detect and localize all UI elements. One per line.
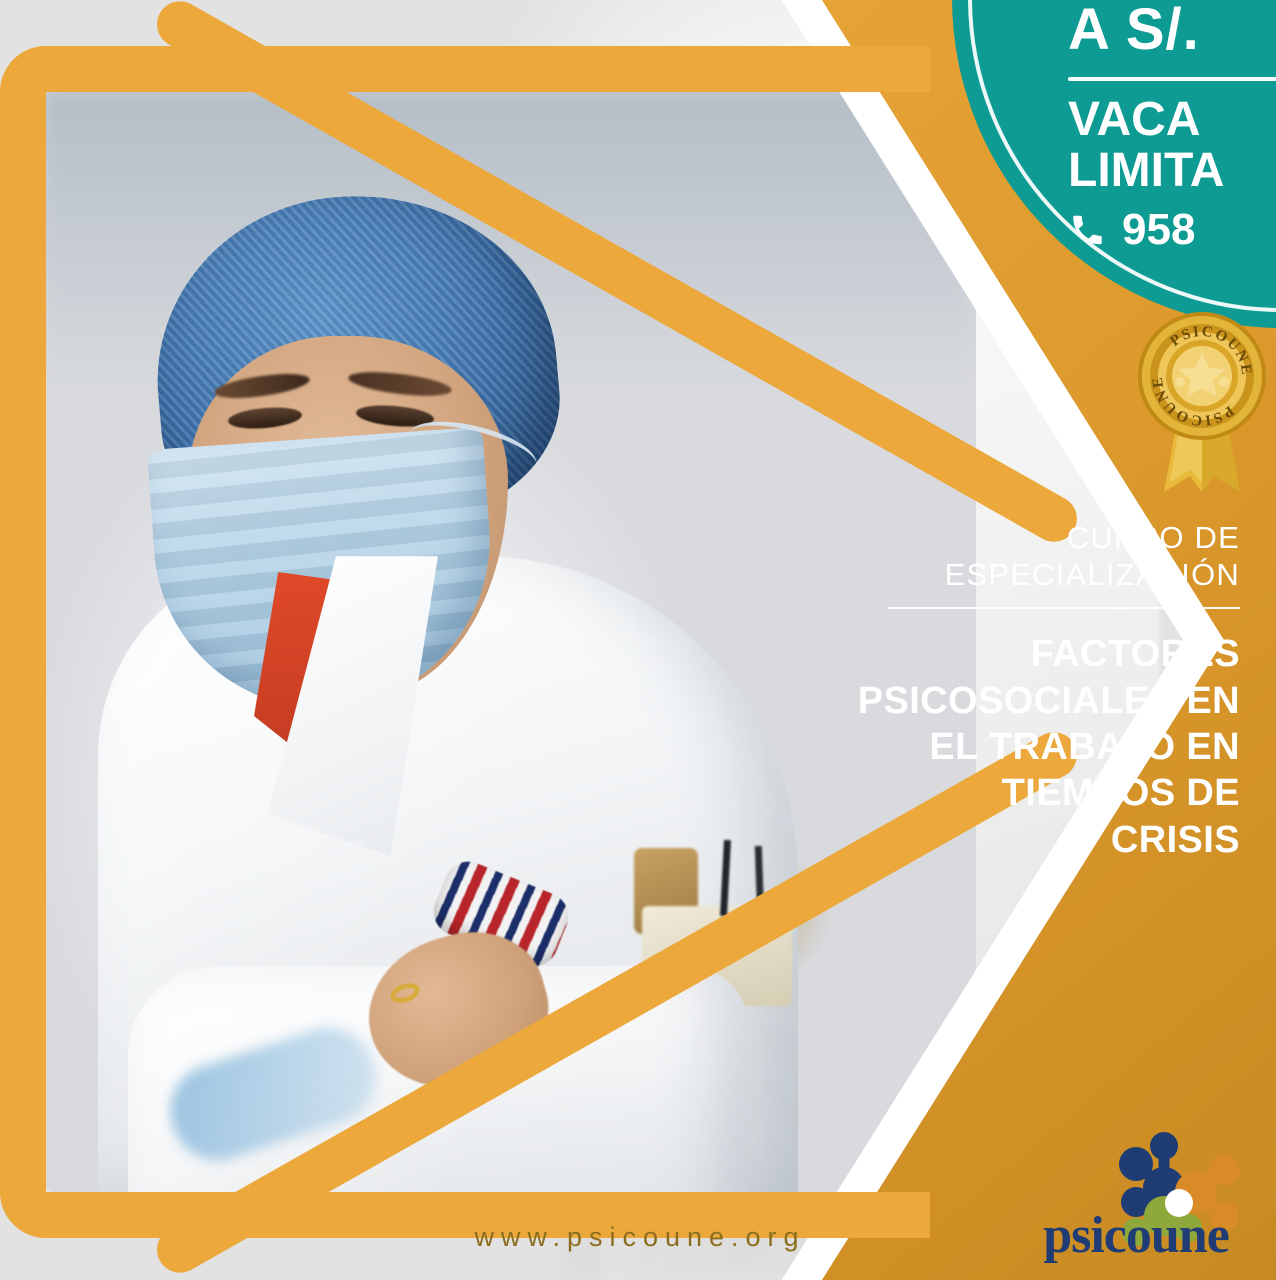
badge-phone-row[interactable]: 958 bbox=[1068, 205, 1276, 255]
brand-wordmark: psicoune bbox=[996, 1206, 1276, 1265]
badge-vacancies-line1: VACA bbox=[1068, 95, 1276, 146]
course-title-line2: PSICOSOCIALES EN bbox=[836, 678, 1240, 724]
course-title-line5: CRISIS bbox=[836, 817, 1240, 863]
course-kicker: CURSO DE ESPECIALIZACIÓN bbox=[836, 520, 1240, 593]
course-kicker-line1: CURSO DE bbox=[836, 520, 1240, 557]
badge-vacancies-line2: LIMITA bbox=[1068, 146, 1276, 197]
badge-price-label: A S/. bbox=[1068, 0, 1276, 59]
course-divider bbox=[888, 607, 1240, 609]
badge-phone-number: 958 bbox=[1122, 205, 1195, 255]
promotional-poster: A S/. VACA LIMITA 958 bbox=[0, 0, 1276, 1280]
course-kicker-line2: ESPECIALIZACIÓN bbox=[836, 557, 1240, 594]
course-text-block: CURSO DE ESPECIALIZACIÓN FACTORES PSICOS… bbox=[836, 520, 1240, 863]
badge-divider bbox=[1068, 77, 1276, 81]
award-medal-icon: PSICOUNE PSICOUNE bbox=[1118, 306, 1276, 496]
course-title-line1: FACTORES bbox=[836, 631, 1240, 677]
course-title-line4: TIEMPOS DE bbox=[836, 770, 1240, 816]
badge-content: A S/. VACA LIMITA 958 bbox=[952, 0, 1276, 255]
phone-icon bbox=[1068, 211, 1106, 249]
course-title: FACTORES PSICOSOCIALES EN EL TRABAJO EN … bbox=[836, 631, 1240, 863]
website-url: www.psicoune.org bbox=[380, 1222, 900, 1253]
course-title-line3: EL TRABAJO EN bbox=[836, 724, 1240, 770]
